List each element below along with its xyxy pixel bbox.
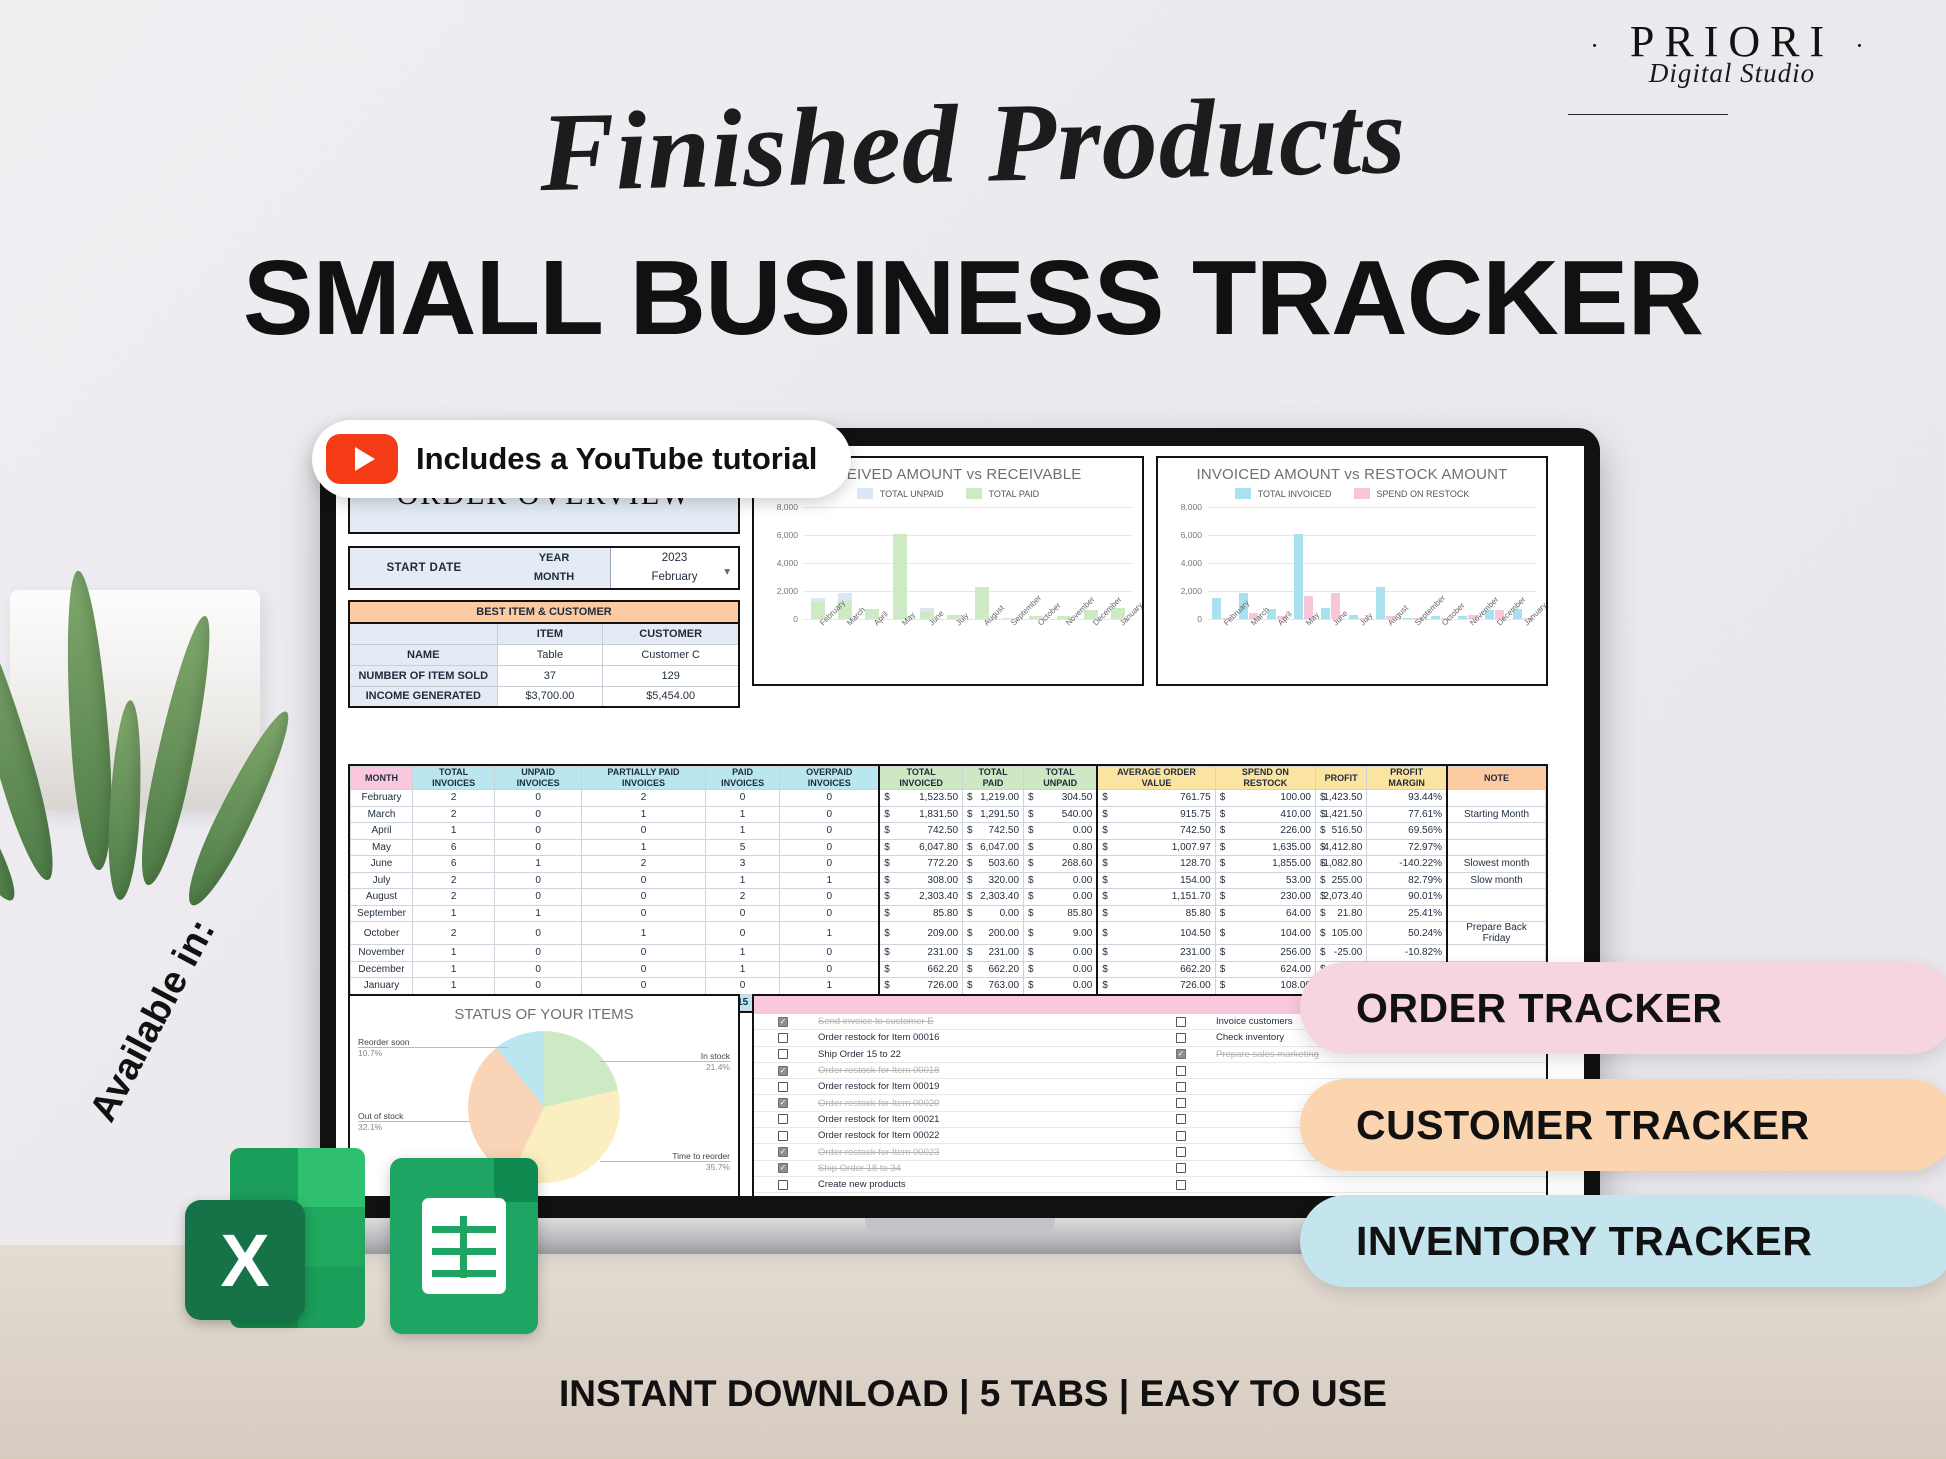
table-row: May601506,047.806,047.000.801,007.971,63…	[351, 839, 1546, 856]
list-item-label: Prepare sales marketing	[1210, 1049, 1319, 1060]
y-tick-label: 4,000	[777, 558, 798, 568]
table-cell: 0	[582, 905, 706, 922]
legend-item: TOTAL INVOICED	[1235, 488, 1332, 499]
x-tick-label: November	[1064, 621, 1070, 627]
table-cell: 200.00	[963, 922, 1024, 945]
x-tick-label: July	[1358, 621, 1364, 627]
list-item-label: Order restock for Item 00023	[812, 1147, 939, 1158]
bar-group	[865, 507, 879, 619]
checkbox[interactable]	[778, 1114, 788, 1124]
table-cell: 4,412.80	[1316, 839, 1367, 856]
y-axis: 02,0004,0006,0008,000	[762, 507, 802, 619]
list-item-label: Order restock for Item 00018	[812, 1065, 939, 1076]
best-panel-title: BEST ITEM & CUSTOMER	[348, 600, 740, 622]
checkbox[interactable]	[1176, 1131, 1186, 1141]
table-cell: 1,523.50	[879, 790, 962, 807]
table-cell: 1,421.50	[1316, 806, 1367, 823]
table-cell: 763.00	[963, 978, 1024, 995]
x-tick-label: March	[1249, 621, 1255, 627]
table-cell: 0.00	[1024, 961, 1098, 978]
table-row: ITEM CUSTOMER	[349, 623, 739, 644]
microsoft-excel-logo: X	[185, 1148, 365, 1328]
list-item: Order restock for Item 00023	[754, 1144, 1152, 1160]
bar-group	[893, 507, 907, 619]
table-cell: 0	[495, 823, 582, 840]
bar	[1458, 616, 1467, 619]
table-cell: 255.00	[1316, 872, 1367, 889]
table-cell: 0	[705, 978, 779, 995]
table-cell: 100.00	[1215, 790, 1315, 807]
table-cell: Slowest month	[1447, 856, 1545, 873]
table-cell: 1	[413, 978, 495, 995]
table-cell: August	[351, 889, 413, 906]
table-cell: 0	[705, 905, 779, 922]
table-cell	[1447, 945, 1545, 962]
table-cell: 231.00	[1097, 945, 1215, 962]
checkbox[interactable]	[1176, 1066, 1186, 1076]
checkbox[interactable]	[778, 1033, 788, 1043]
table-cell: 1	[413, 945, 495, 962]
list-item-label: Create new products	[812, 1179, 906, 1190]
pie-label-in-stock: In stock 21.4%	[701, 1051, 730, 1073]
table-cell: 1	[495, 856, 582, 873]
best-row-customer: 129	[603, 665, 739, 686]
table-cell: 742.50	[963, 823, 1024, 840]
table-cell: 1,831.50	[879, 806, 962, 823]
table-cell: 0	[495, 790, 582, 807]
bar-group	[1212, 507, 1231, 619]
checkbox[interactable]	[778, 1049, 788, 1059]
table-cell: April	[351, 823, 413, 840]
best-row-item: 37	[497, 665, 603, 686]
list-item-label: Check inventory	[1210, 1032, 1284, 1043]
bar-group	[1321, 507, 1340, 619]
x-tick-label: April	[1276, 621, 1282, 627]
best-row-customer: $5,454.00	[603, 686, 739, 707]
sheets-grid-icon	[422, 1198, 506, 1294]
table-cell: 85.80	[879, 905, 962, 922]
table-row: NAME Table Customer C	[349, 644, 739, 665]
leader-line	[358, 1121, 470, 1122]
sheets-page-fold	[494, 1158, 538, 1202]
table-cell: 742.50	[879, 823, 962, 840]
table-cell: 0	[495, 961, 582, 978]
table-cell: 268.60	[1024, 856, 1098, 873]
x-tick-label: May	[900, 621, 906, 627]
table-cell: June	[351, 856, 413, 873]
checkbox[interactable]	[778, 1180, 788, 1190]
table-cell: 0	[780, 961, 879, 978]
table-cell: 0.00	[1024, 978, 1098, 995]
checkbox[interactable]	[1176, 1180, 1186, 1190]
table-cell: -140.22%	[1367, 856, 1447, 873]
table-cell: 0.00	[1024, 872, 1098, 889]
x-tick-label: June	[927, 621, 933, 627]
chart-title: INVOICED AMOUNT vs RESTOCK AMOUNT	[1158, 466, 1546, 483]
table-cell: 72.97%	[1367, 839, 1447, 856]
list-item: Order restock for Item 00018	[754, 1063, 1152, 1079]
table-cell: 0	[495, 872, 582, 889]
list-item-label: Order restock for Item 00016	[812, 1032, 939, 1043]
table-cell: 2,303.40	[879, 889, 962, 906]
table-cell: 1	[582, 806, 706, 823]
table-cell: 1,007.97	[1097, 839, 1215, 856]
column-header: NOTE	[1447, 767, 1545, 790]
y-tick-label: 6,000	[1181, 530, 1202, 540]
bar-group	[1376, 507, 1395, 619]
bar-group	[1403, 507, 1422, 619]
bar	[1321, 608, 1330, 619]
logo-dot-left: ·	[1590, 31, 1609, 60]
logo-dot-right: ·	[1855, 31, 1874, 60]
chart-plot-area: 02,0004,0006,0008,000 FebruaryMarchApril…	[762, 507, 1134, 645]
table-cell: January	[351, 978, 413, 995]
column-header: TOTAL INVOICED	[879, 767, 962, 790]
column-header: MONTH	[351, 767, 413, 790]
table-cell: 105.00	[1316, 922, 1367, 945]
y-tick-label: 6,000	[777, 530, 798, 540]
date-panel: START DATE YEAR MONTH 2023 February ▾	[348, 546, 740, 590]
table-cell: 1	[705, 945, 779, 962]
table-cell: 2	[413, 806, 495, 823]
checkbox[interactable]	[778, 1082, 788, 1092]
table-cell: 1	[705, 823, 779, 840]
table-cell: 0	[495, 922, 582, 945]
y-tick-label: 8,000	[1181, 502, 1202, 512]
table-row: April10010742.50742.500.00742.50226.0051…	[351, 823, 1546, 840]
table-cell: Prepare Back Friday	[1447, 922, 1545, 945]
legend-label: TOTAL UNPAID	[880, 489, 944, 499]
column-header: TOTAL PAID	[963, 767, 1024, 790]
table-cell: 0	[582, 872, 706, 889]
list-item-label: Order restock for Item 00020	[812, 1098, 939, 1109]
checkbox[interactable]	[1176, 1082, 1186, 1092]
bar-group	[1349, 507, 1368, 619]
table-cell: 772.20	[879, 856, 962, 873]
table-cell: 0	[582, 961, 706, 978]
table-cell: 662.20	[963, 961, 1024, 978]
table-cell: -1,082.80	[1316, 856, 1367, 873]
checkbox[interactable]	[1176, 1033, 1186, 1043]
table-cell: 104.50	[1097, 922, 1215, 945]
bar	[1212, 598, 1221, 619]
x-tick-label: July	[954, 621, 960, 627]
table-cell: 93.44%	[1367, 790, 1447, 807]
column-header: PROFIT	[1316, 767, 1367, 790]
table-cell: 1	[705, 872, 779, 889]
year-label: YEAR	[498, 549, 610, 568]
table-cell: 0	[495, 889, 582, 906]
table-row: INCOME GENERATED $3,700.00 $5,454.00	[349, 686, 739, 707]
list-item-label: Ship Order 18 to 34	[812, 1163, 901, 1174]
table-cell: 0	[780, 806, 879, 823]
list-item: Forecast orders	[754, 1193, 1152, 1196]
footer-text: INSTANT DOWNLOAD | 5 TABS | EASY TO USE	[0, 1373, 1946, 1415]
table-cell	[1447, 889, 1545, 906]
table-cell: 1,151.70	[1097, 889, 1215, 906]
table-cell: 226.00	[1215, 823, 1315, 840]
table-cell: 0	[705, 922, 779, 945]
best-row-customer: Customer C	[603, 644, 739, 665]
best-row-label: NAME	[349, 644, 497, 665]
laptop-notch	[865, 1218, 1055, 1232]
column-header: AVERAGE ORDER VALUE	[1097, 767, 1215, 790]
table-cell: 1	[413, 961, 495, 978]
leader-line	[600, 1161, 730, 1162]
table-cell: 0	[780, 856, 879, 873]
table-cell: October	[351, 922, 413, 945]
list-item: Send invoice to customer E	[754, 1014, 1152, 1030]
checkbox[interactable]	[778, 1098, 788, 1108]
table-cell: 516.50	[1316, 823, 1367, 840]
table-cell: 77.61%	[1367, 806, 1447, 823]
table-row: September1100085.800.0085.8085.8064.0021…	[351, 905, 1546, 922]
y-tick-label: 0	[1197, 614, 1202, 624]
x-tick-label: December	[1091, 621, 1097, 627]
checkbox[interactable]	[778, 1147, 788, 1157]
table-cell: Slow month	[1447, 872, 1545, 889]
best-item-customer-panel: BEST ITEM & CUSTOMER ITEM CUSTOMER NAME …	[348, 600, 740, 708]
list-item	[1152, 1063, 1548, 1079]
start-date-label: START DATE	[350, 548, 498, 588]
list-item: Ship Order 15 to 22	[754, 1047, 1152, 1063]
checkbox[interactable]	[778, 1131, 788, 1141]
checkbox[interactable]	[1176, 1163, 1186, 1173]
table-cell: 9.00	[1024, 922, 1098, 945]
table-cell: September	[351, 905, 413, 922]
month-value[interactable]: February	[611, 568, 738, 587]
youtube-badge-label: Includes a YouTube tutorial	[416, 441, 817, 477]
table-cell: 308.00	[879, 872, 962, 889]
google-sheets-logo	[390, 1158, 538, 1334]
table-cell: 0	[495, 978, 582, 995]
y-tick-label: 2,000	[777, 586, 798, 596]
table-cell: 25.41%	[1367, 905, 1447, 922]
table-cell: 0	[495, 839, 582, 856]
table-cell: 104.00	[1215, 922, 1315, 945]
table-cell: 1	[413, 823, 495, 840]
list-item: Order restock for Item 00021	[754, 1112, 1152, 1128]
list-item-label: Order restock for Item 00019	[812, 1081, 939, 1092]
table-cell: 1,291.50	[963, 806, 1024, 823]
x-tick-label: September	[1413, 621, 1419, 627]
chevron-down-icon[interactable]: ▾	[724, 563, 730, 582]
list-item-label: Order restock for Item 00022	[812, 1130, 939, 1141]
table-cell: 2	[705, 889, 779, 906]
table-cell: 0.00	[1024, 889, 1098, 906]
bar	[1403, 618, 1412, 619]
bar-group	[947, 507, 961, 619]
list-item: Create new products	[754, 1177, 1152, 1193]
available-in-label: Available in:	[82, 912, 224, 1129]
table-cell: 662.20	[1097, 961, 1215, 978]
y-tick-label: 4,000	[1181, 558, 1202, 568]
x-tick-label: September	[1009, 621, 1015, 627]
table-cell: 3	[705, 856, 779, 873]
table-cell: 6	[413, 839, 495, 856]
table-cell: 726.00	[879, 978, 962, 995]
leader-line	[600, 1061, 730, 1062]
x-tick-label: January	[1118, 621, 1124, 627]
logo-rule	[1568, 114, 1728, 115]
bar-group	[920, 507, 934, 619]
best-spacer	[349, 623, 497, 644]
pie-label-time-to-reorder: Time to reorder 35.7%	[672, 1151, 730, 1173]
table-cell: 320.00	[963, 872, 1024, 889]
table-cell: 0	[582, 945, 706, 962]
checkbox[interactable]	[1176, 1098, 1186, 1108]
bar	[1349, 615, 1358, 619]
x-tick-label: December	[1495, 621, 1501, 627]
list-item: Ship Order 18 to 34	[754, 1161, 1152, 1177]
table-cell: 5	[705, 839, 779, 856]
table-cell: 6,047.80	[879, 839, 962, 856]
best-col-customer: CUSTOMER	[603, 623, 739, 644]
checkbox[interactable]	[1176, 1017, 1186, 1027]
y-axis: 02,0004,0006,0008,000	[1166, 507, 1206, 619]
leader-line	[358, 1047, 508, 1048]
column-header: PROFIT MARGIN	[1367, 767, 1447, 790]
table-row: February202001,523.501,219.00304.50761.7…	[351, 790, 1546, 807]
bar	[1376, 587, 1385, 619]
plant-pot	[10, 590, 260, 810]
table-cell: 726.00	[1097, 978, 1215, 995]
table-cell: 2	[582, 790, 706, 807]
month-label: MONTH	[498, 568, 610, 587]
x-tick-label: August	[982, 621, 988, 627]
table-cell: 761.75	[1097, 790, 1215, 807]
table-cell: 2,073.40	[1316, 889, 1367, 906]
list-item: Order restock for Item 00019	[754, 1079, 1152, 1095]
table-cell	[1447, 790, 1545, 807]
bar-group	[1057, 507, 1071, 619]
table-cell	[1447, 905, 1545, 922]
youtube-tutorial-badge[interactable]: Includes a YouTube tutorial	[312, 420, 851, 498]
table-row: October20101209.00200.009.00104.50104.00…	[351, 922, 1546, 945]
table-row: NUMBER OF ITEM SOLD 37 129	[349, 665, 739, 686]
table-cell: 128.70	[1097, 856, 1215, 873]
x-tick-label: October	[1440, 621, 1446, 627]
list-item: Order restock for Item 00022	[754, 1128, 1152, 1144]
list-item: Order restock for Item 00016	[754, 1030, 1152, 1046]
best-item-table: ITEM CUSTOMER NAME Table Customer C NUMB…	[348, 622, 740, 708]
y-tick-label: 2,000	[1181, 586, 1202, 596]
table-cell: July	[351, 872, 413, 889]
legend-label: TOTAL PAID	[989, 489, 1040, 499]
bar-group	[975, 507, 989, 619]
table-cell: 85.80	[1097, 905, 1215, 922]
x-tick-label: January	[1522, 621, 1528, 627]
table-cell: 2,303.40	[963, 889, 1024, 906]
x-tick-label: May	[1304, 621, 1310, 627]
table-cell: 0.00	[963, 905, 1024, 922]
bar-group	[1002, 507, 1016, 619]
table-cell: 0	[780, 839, 879, 856]
x-tick-label: November	[1468, 621, 1474, 627]
table-cell: 662.20	[879, 961, 962, 978]
y-tick-label: 8,000	[777, 502, 798, 512]
chart-legend: TOTAL INVOICED SPEND ON RESTOCK	[1158, 488, 1546, 499]
badge-order-tracker[interactable]: ORDER TRACKER	[1300, 962, 1946, 1054]
table-cell: 1	[582, 839, 706, 856]
best-col-item: ITEM	[497, 623, 603, 644]
list-item-label: Send invoice to customer E	[812, 1016, 934, 1027]
table-cell: 0	[780, 905, 879, 922]
table-cell: 2	[413, 922, 495, 945]
table-cell: 0	[780, 889, 879, 906]
table-row: March201101,831.501,291.50540.00915.7541…	[351, 806, 1546, 823]
table-cell: 503.60	[963, 856, 1024, 873]
x-tick-label: February	[1222, 621, 1228, 627]
badge-inventory-tracker[interactable]: INVENTORY TRACKER	[1300, 1195, 1946, 1287]
table-cell: 540.00	[1024, 806, 1098, 823]
table-cell: May	[351, 839, 413, 856]
table-cell: 304.50	[1024, 790, 1098, 807]
checkbox[interactable]	[778, 1163, 788, 1173]
table-cell	[1447, 823, 1545, 840]
best-row-item: Table	[497, 644, 603, 665]
excel-x-glyph: X	[185, 1200, 305, 1320]
badge-customer-tracker[interactable]: CUSTOMER TRACKER	[1300, 1079, 1946, 1171]
checkbox[interactable]	[778, 1066, 788, 1076]
table-cell: 0.00	[1024, 945, 1098, 962]
table-cell: 64.00	[1215, 905, 1315, 922]
x-tick-label: June	[1331, 621, 1337, 627]
x-tick-label: October	[1036, 621, 1042, 627]
todo-list-left: Send invoice to customer EOrder restock …	[754, 1014, 1152, 1196]
legend-label: TOTAL INVOICED	[1258, 489, 1332, 499]
bar	[1294, 534, 1303, 619]
pie-label-out-of-stock: Out of stock 32.1%	[358, 1111, 403, 1133]
checkbox[interactable]	[1176, 1114, 1186, 1124]
table-cell: 231.00	[963, 945, 1024, 962]
bar-group	[1267, 507, 1286, 619]
table-cell: 6,047.00	[963, 839, 1024, 856]
bar-group	[811, 507, 825, 619]
chart-plot-area: 02,0004,0006,0008,000 FebruaryMarchApril…	[1166, 507, 1538, 645]
table-cell: 256.00	[1215, 945, 1315, 962]
table-cell: -25.00	[1316, 945, 1367, 962]
bar-group	[1294, 507, 1313, 619]
legend-item: TOTAL PAID	[966, 488, 1040, 499]
table-cell: 1	[413, 905, 495, 922]
table-cell: 624.00	[1215, 961, 1315, 978]
column-header: TOTAL INVOICES	[413, 767, 495, 790]
x-tick-label: March	[845, 621, 851, 627]
column-header: SPEND ON RESTOCK	[1215, 767, 1315, 790]
year-value[interactable]: 2023	[611, 549, 738, 568]
table-row: August200202,303.402,303.400.001,151.702…	[351, 889, 1546, 906]
table-cell: 0	[780, 823, 879, 840]
checkbox[interactable]	[1176, 1049, 1186, 1059]
x-tick-label: April	[872, 621, 878, 627]
column-header: PARTIALLY PAID INVOICES	[582, 767, 706, 790]
table-cell: 108.00	[1215, 978, 1315, 995]
table-cell: 0.80	[1024, 839, 1098, 856]
pie-label-reorder-soon: Reorder soon 10.7%	[358, 1037, 410, 1059]
best-row-label: NUMBER OF ITEM SOLD	[349, 665, 497, 686]
table-cell: 1	[780, 978, 879, 995]
legend-item: SPEND ON RESTOCK	[1354, 488, 1470, 499]
checkbox[interactable]	[778, 1017, 788, 1027]
table-cell: February	[351, 790, 413, 807]
checkbox[interactable]	[1176, 1147, 1186, 1157]
table-cell: Starting Month	[1447, 806, 1545, 823]
table-row: November10010231.00231.000.00231.00256.0…	[351, 945, 1546, 962]
brand-logo: · PRIORI · Digital Studio	[1562, 20, 1902, 130]
table-cell: 90.01%	[1367, 889, 1447, 906]
list-item-label: Forecast orders	[812, 1195, 885, 1196]
